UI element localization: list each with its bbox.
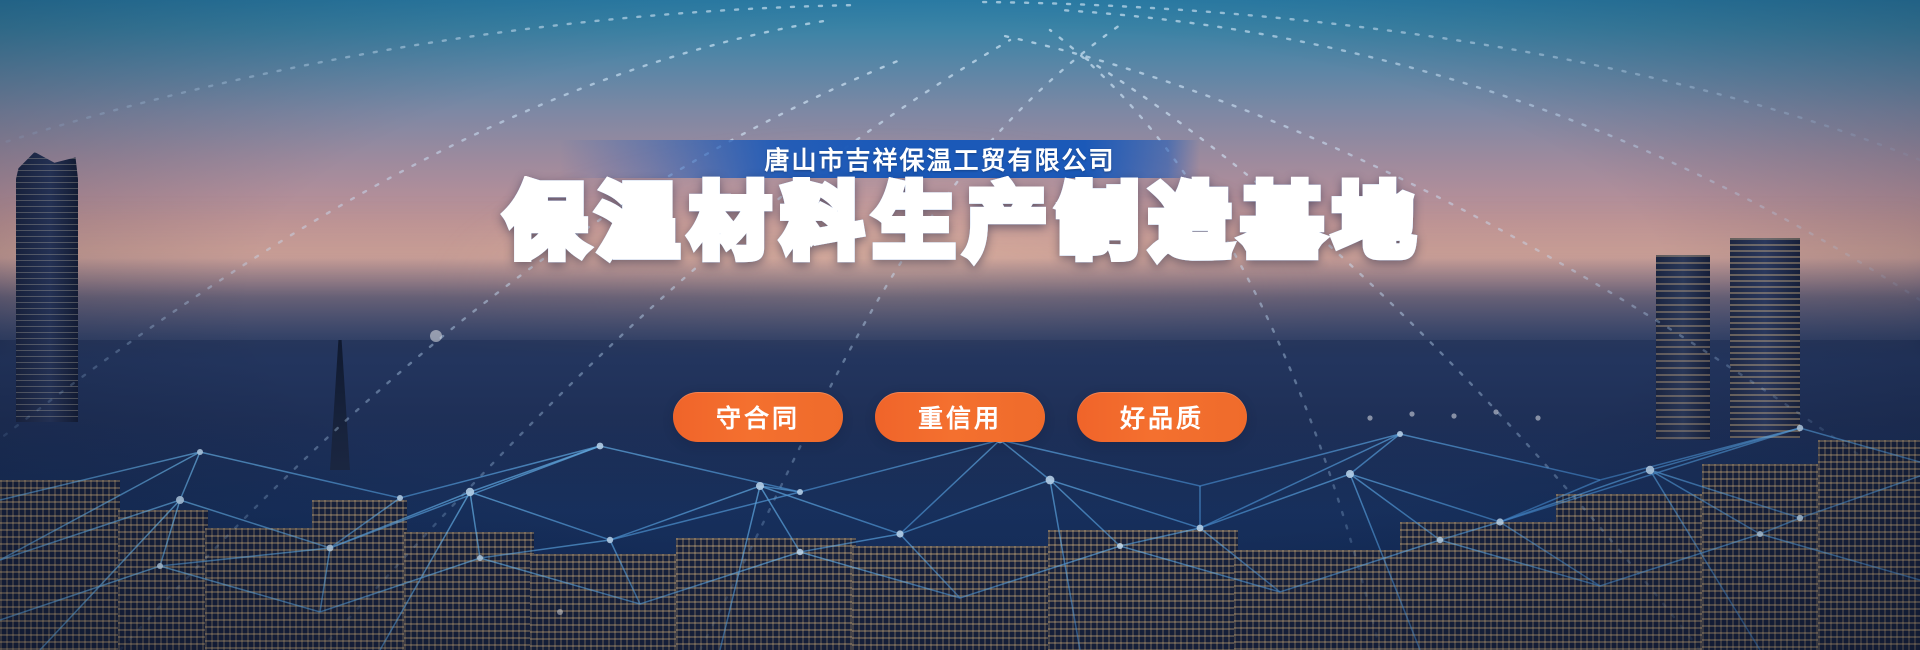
badge-row: 守合同 重信用 好品质: [0, 392, 1920, 442]
headline-container: 保温材料生产制造基地 保温材料生产制造基地: [0, 178, 1920, 268]
badge-haopinzhi[interactable]: 好品质: [1077, 392, 1247, 442]
headline-outline: 保温材料生产制造基地 保温材料生产制造基地: [494, 178, 1426, 268]
badge-shouhetong[interactable]: 守合同: [673, 392, 843, 442]
badge-zhongxinyong[interactable]: 重信用: [875, 392, 1045, 442]
headline-text-fill: 保温材料生产制造基地: [494, 178, 1426, 268]
hero-banner: 唐山市吉祥保温工贸有限公司 保温材料生产制造基地 保温材料生产制造基地 守合同 …: [0, 0, 1920, 650]
badge-label: 好品质: [1120, 399, 1204, 435]
hero-content: 唐山市吉祥保温工贸有限公司 保温材料生产制造基地 保温材料生产制造基地 守合同 …: [0, 0, 1920, 650]
company-name-banner: 唐山市吉祥保温工贸有限公司: [560, 140, 1200, 178]
badge-label: 重信用: [918, 399, 1002, 435]
badge-label: 守合同: [716, 399, 800, 435]
company-name-text: 唐山市吉祥保温工贸有限公司: [644, 141, 1115, 177]
